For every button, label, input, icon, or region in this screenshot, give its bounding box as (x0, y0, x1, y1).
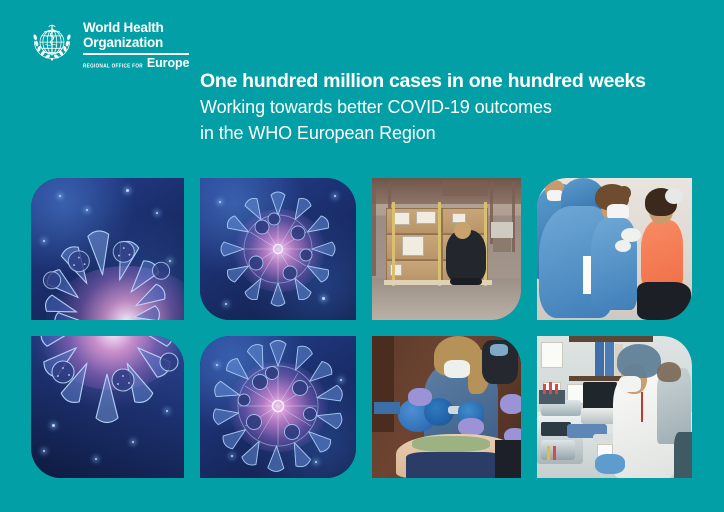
logo-regional-prefix: REGIONAL OFFICE FOR (83, 59, 143, 72)
logo-wordmark: World Health Organization REGIONAL OFFIC… (83, 20, 189, 71)
gallery-tile-virus-spikes-inverted (31, 336, 184, 478)
warehouse-photo (372, 178, 521, 320)
virus-illustration-art (31, 336, 184, 478)
logo-region-name: Europe (147, 57, 189, 70)
gallery-tile-vaccination-clinic (537, 178, 692, 320)
gallery-tile-virus-spikes-closeup (31, 178, 184, 320)
logo-name-line-1: World Health (83, 21, 189, 36)
gallery-tile-laboratory-technician (537, 336, 692, 478)
starfield (31, 178, 184, 320)
who-europe-logo: World Health Organization REGIONAL OFFIC… (28, 20, 189, 71)
gallery-tile-cpr-training (372, 336, 521, 478)
gallery-tile-virus-particle-large (200, 336, 356, 478)
virus-illustration-art (31, 178, 184, 320)
page-title: One hundred million cases in one hundred… (200, 68, 700, 94)
logo-divider (83, 53, 189, 55)
cover-title-block: One hundred million cases in one hundred… (200, 68, 700, 146)
gallery-tile-warehouse-supplies (372, 178, 521, 320)
cover-page: World Health Organization REGIONAL OFFIC… (0, 0, 724, 512)
vaccination-photo (537, 178, 692, 320)
logo-name-line-2: Organization (83, 36, 189, 51)
cpr-training-photo (372, 336, 521, 478)
virus-illustration-art (200, 178, 356, 320)
logo-region-row: REGIONAL OFFICE FOR Europe (83, 57, 189, 71)
virus-illustration-art (200, 336, 356, 478)
who-emblem-icon (28, 20, 76, 68)
image-gallery-grid (31, 178, 694, 478)
laboratory-photo (537, 336, 692, 478)
page-subtitle-line-1: Working towards better COVID-19 outcomes (200, 94, 700, 120)
page-subtitle-line-2: in the WHO European Region (200, 120, 700, 146)
gallery-tile-virus-particle-full (200, 178, 356, 320)
